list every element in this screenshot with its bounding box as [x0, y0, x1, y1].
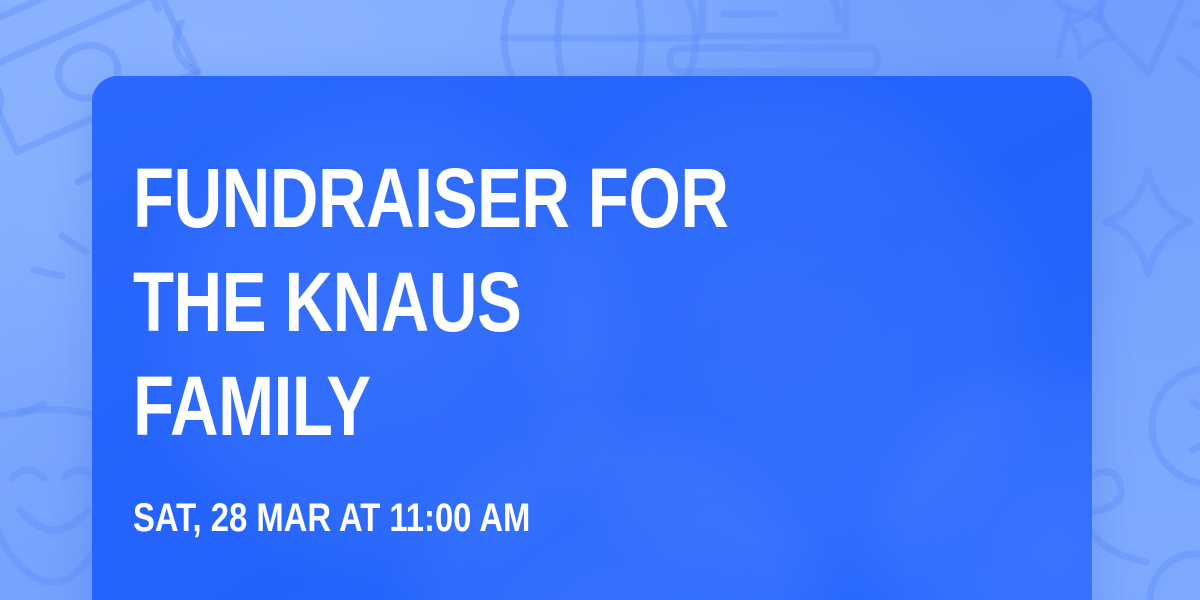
card-content: Fundraiser for the Knaus Family Sat, 28 …	[133, 76, 1052, 540]
event-banner: Fundraiser for the Knaus Family Sat, 28 …	[0, 0, 1200, 600]
balloon-icon	[1150, 554, 1200, 600]
event-card[interactable]: Fundraiser for the Knaus Family Sat, 28 …	[92, 76, 1092, 600]
play-circle-icon	[1152, 368, 1200, 484]
event-title: Fundraiser for the Knaus Family	[133, 146, 868, 458]
laptop-icon	[670, 0, 878, 72]
sparkle-icon	[1106, 170, 1190, 274]
event-datetime: Sat, 28 Mar at 11:00 AM	[133, 496, 887, 540]
sparkle-icon	[1058, 0, 1124, 66]
